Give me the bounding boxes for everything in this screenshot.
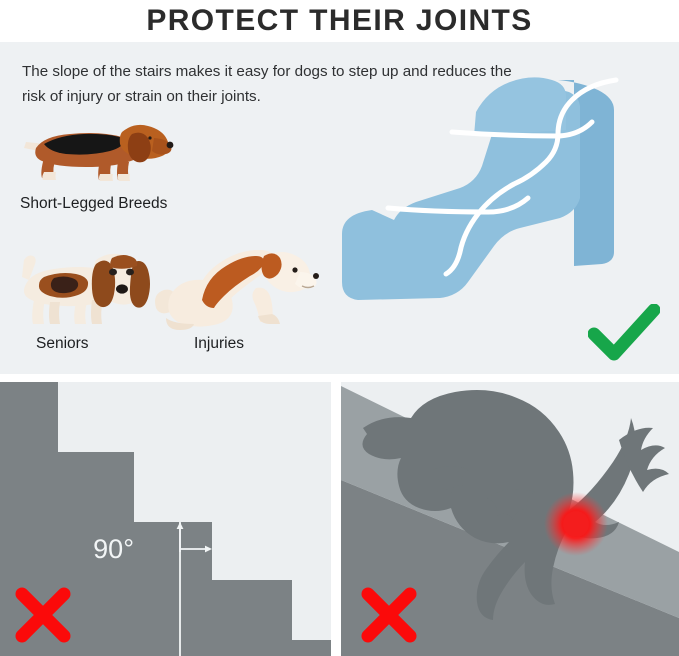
caption-short-legged-breeds: Short-Legged Breeds: [20, 195, 167, 213]
check-icon: [588, 304, 660, 362]
caption-injuries: Injuries: [194, 335, 244, 353]
product-stairs-illustration: [330, 62, 660, 312]
benefits-panel: The slope of the stairs makes it easy fo…: [0, 42, 679, 374]
x-icon-jumping: [360, 586, 418, 644]
dog-illustration-short-legged: [14, 110, 174, 188]
dog-illustration-injuries: [152, 250, 324, 332]
caption-seniors: Seniors: [36, 335, 89, 353]
x-icon-stairs: [14, 586, 72, 644]
page-title: PROTECT THEIR JOINTS: [146, 6, 532, 36]
infographic-page: PROTECT THEIR JOINTS The slope of the st…: [0, 0, 679, 656]
header-bar: PROTECT THEIR JOINTS: [0, 0, 679, 40]
angle-label: 90°: [93, 534, 134, 564]
dog-illustration-seniors: [12, 242, 157, 332]
